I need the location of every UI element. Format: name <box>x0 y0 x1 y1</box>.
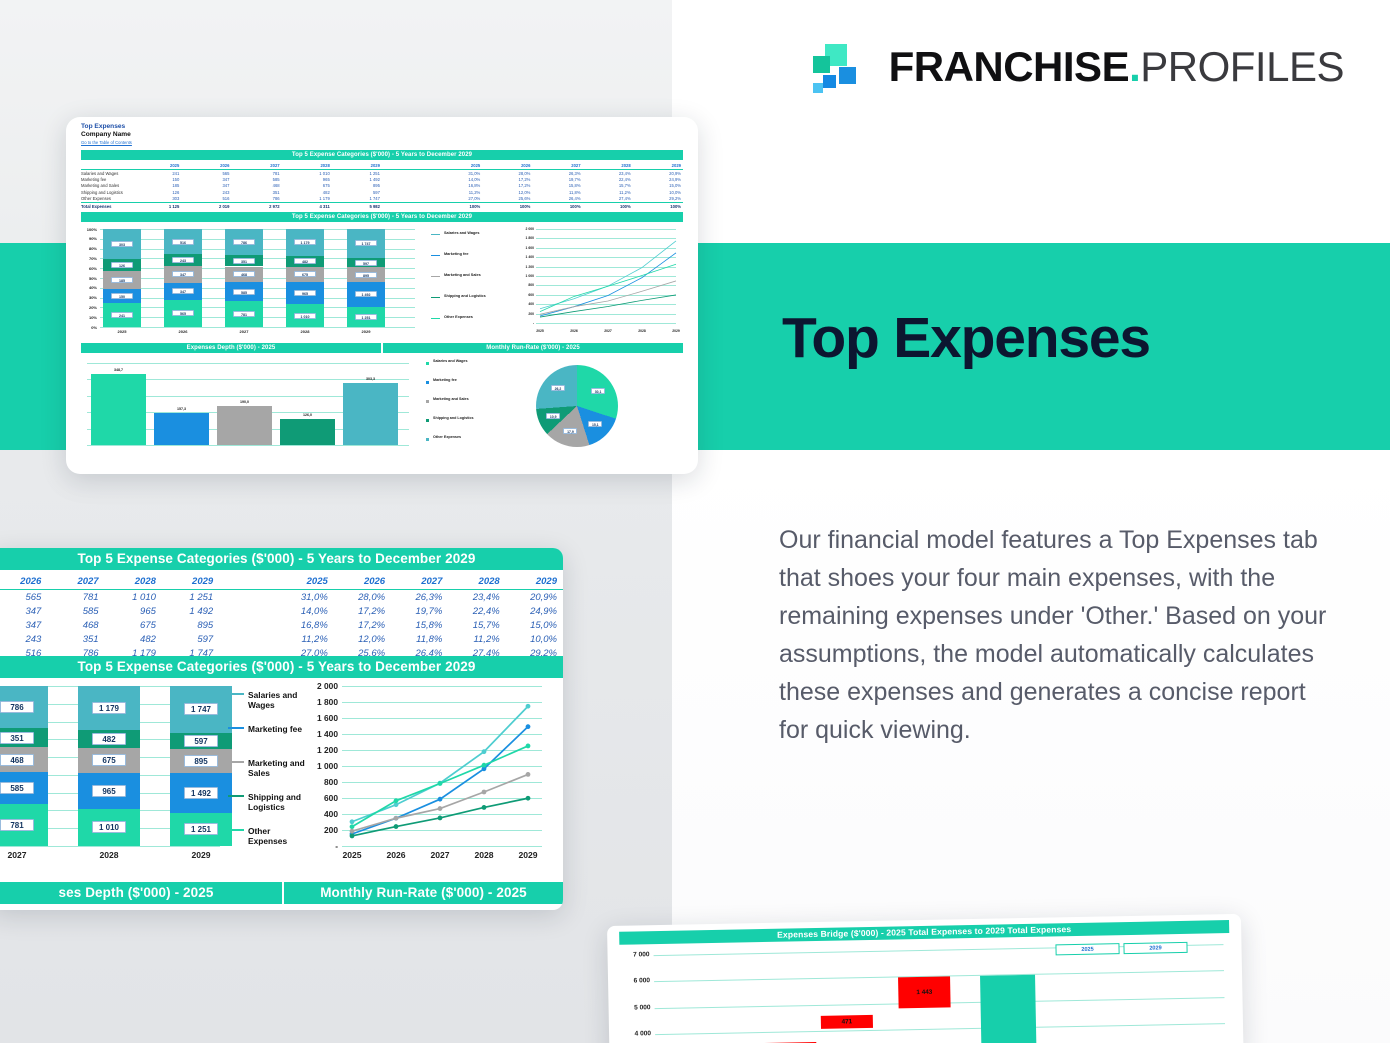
x-axis-tick-2: 2027 <box>225 329 263 334</box>
mini-x-tick-4: 2029 <box>664 329 688 333</box>
line-y-tick-1: 1 800 <box>300 697 338 707</box>
mini-y-tick-9: 200 <box>514 312 534 316</box>
mini-x-tick-2: 2027 <box>596 329 620 333</box>
cell-pct-4: 20,9% <box>506 590 563 605</box>
legend-swatch <box>431 318 440 319</box>
depth-bar-label-1: 157,3 <box>154 407 209 411</box>
segment-label: 185 <box>111 277 133 283</box>
cell-pct-3: 15,7% <box>448 618 505 632</box>
legend-swatch <box>431 297 440 298</box>
logo-word-franchise: FRANCHISE <box>889 43 1130 90</box>
legend-label: Marketing and Sales <box>433 397 469 402</box>
zoom-col-pct-4: 2029 <box>506 574 563 590</box>
screenshot-card-worksheet-overview: Top Expenses Company Name Go to the Tabl… <box>66 117 698 474</box>
bridge-gridline-3 <box>655 1023 1225 1035</box>
segment-label: 675 <box>92 754 126 766</box>
legend-swatch <box>228 693 244 695</box>
y-axis-tick-1: 90% <box>81 236 97 241</box>
segment-label: 351 <box>233 258 255 264</box>
logo-word-profiles: PROFILES <box>1140 43 1344 90</box>
cell-value-0: 1 125 <box>131 202 181 209</box>
segment-label: 965 <box>294 290 316 296</box>
cell-value-1: 585 <box>47 604 104 618</box>
legend-swatch <box>426 362 429 365</box>
screenshot-card-expenses-bridge: Expenses Bridge ($'000) - 2025 Total Exp… <box>607 914 1244 1043</box>
cell-pct-4: 100% <box>633 202 683 209</box>
cell-pct-0: 16,8% <box>276 618 333 632</box>
depth-bar <box>280 419 335 445</box>
legend-swatch <box>431 255 440 256</box>
legend-swatch <box>426 381 429 384</box>
stacked-percent-column-chart: 100%90%80%70%60%50%40%30%20%10%0%3031261… <box>81 225 683 339</box>
row-label: Other Expenses <box>81 196 131 203</box>
cell-pct-0: 11,2% <box>276 633 333 647</box>
segment-label: 675 <box>294 271 316 277</box>
band-header-chart-zoom: Top 5 Expense Categories ($'000) - 5 Yea… <box>0 656 563 678</box>
legend-swatch <box>228 829 244 831</box>
mini-y-tick-6: 800 <box>514 283 534 287</box>
band-header-table: Top 5 Expense Categories ($'000) - 5 Yea… <box>81 150 683 160</box>
legend-label: Marketing fee <box>444 252 468 257</box>
cell-value-0: 241 <box>131 170 181 177</box>
legend-item: Marketing and Sales <box>431 273 516 278</box>
cell-value-0: 243 <box>0 633 47 647</box>
bridge-bar-label-2: 471 <box>821 1017 873 1025</box>
y-axis-tick-4: 60% <box>81 266 97 271</box>
legend-label: Salaries and Wages <box>433 359 468 364</box>
legend-label: Salaries and Wages <box>248 690 306 710</box>
expense-table-zoom: 2026202720282029202520262027202820295657… <box>0 574 563 652</box>
cell-gap <box>382 202 432 209</box>
segment-label: 1 492 <box>355 291 377 297</box>
mini-y-tick-4: 1 200 <box>514 265 534 269</box>
legend-item: Salaries and Wages <box>431 231 516 236</box>
legend-label: Marketing and Sales <box>444 273 481 278</box>
cell-pct-2: 19,7% <box>391 604 448 618</box>
cell-value-2: 781 <box>231 170 281 177</box>
depth-bar <box>343 383 398 445</box>
y-axis-tick-2: 80% <box>81 246 97 251</box>
cell-value-1: 351 <box>47 633 104 647</box>
cell-value-1: 2 019 <box>181 202 231 209</box>
line-y-tick-10: - <box>300 841 338 851</box>
zoom-legend-item: Marketing fee <box>228 724 306 734</box>
y-axis-tick-10: 0% <box>81 325 97 330</box>
segment-label: 1 179 <box>92 702 126 714</box>
segment-label: 597 <box>355 260 377 266</box>
table-row: 24335148259711,2%12,0%11,8%11,2%10,0% <box>0 633 563 647</box>
legend-swatch <box>228 727 244 729</box>
brand-logo: FRANCHISE.PROFILES <box>813 38 1344 96</box>
depth-legend-item: Marketing fee <box>426 378 506 384</box>
cell-pct-1: 25,6% <box>482 196 532 203</box>
cell-value-3: 4 311 <box>282 202 332 209</box>
zoom-col-gap <box>219 574 276 590</box>
band-header-runrate-zoom: Monthly Run-Rate ($'000) - 2025 <box>284 882 563 904</box>
band-header-depth-zoom: ses Depth ($'000) - 2025 <box>0 882 282 904</box>
zoom-x-tick-2: 2029 <box>170 850 232 860</box>
cell-value-0: 303 <box>131 196 181 203</box>
line-y-tick-7: 600 <box>300 793 338 803</box>
legend-label: Marketing and Sales <box>248 758 306 778</box>
cell-value-3: 597 <box>162 633 219 647</box>
logo-wordmark: FRANCHISE.PROFILES <box>889 43 1344 91</box>
depth-legend-item: Marketing and Sales <box>426 397 506 403</box>
depth-bar-label-2: 190,0 <box>217 400 272 404</box>
cell-pct-1: 28,0% <box>334 590 391 605</box>
cell-pct-3: 23,4% <box>448 590 505 605</box>
cell-pct-4: 15,0% <box>506 618 563 632</box>
segment-label: 895 <box>184 755 218 767</box>
zoom-legend-item: Other Expenses <box>228 826 306 846</box>
bridge-y-tick-1: 6 000 <box>620 977 650 985</box>
depth-bar <box>217 406 272 445</box>
segment-label: 482 <box>294 258 316 264</box>
cell-pct-2: 100% <box>532 202 582 209</box>
background-white-top-right <box>672 0 1390 243</box>
y-axis-tick-0: 100% <box>81 227 97 232</box>
zoom-x-tick-0: 2027 <box>0 850 48 860</box>
cell-pct-2: 26,3% <box>391 590 448 605</box>
logo-dot: . <box>1129 43 1140 90</box>
line-y-tick-9: 200 <box>300 825 338 835</box>
legend-label: Shipping and Logistics <box>444 294 486 299</box>
segment-label: 241 <box>111 312 133 318</box>
table-row: 5657811 0101 25131,0%28,0%26,3%23,4%20,9… <box>0 590 563 605</box>
legend-swatch <box>431 276 440 277</box>
mini-x-tick-0: 2025 <box>528 329 552 333</box>
y-axis-tick-6: 40% <box>81 285 97 290</box>
segment-label: 597 <box>184 735 218 747</box>
x-axis-tick-3: 2028 <box>286 329 324 334</box>
cell-gap <box>219 590 276 605</box>
segment-label: 585 <box>0 782 34 794</box>
cell-value-4: 1 747 <box>332 196 382 203</box>
zoom-col-year-3: 2029 <box>162 574 219 590</box>
mini-y-tick-3: 1 400 <box>514 255 534 259</box>
bridge-bar-4 <box>980 975 1036 1043</box>
legend-label: Marketing fee <box>248 724 302 734</box>
legend-swatch <box>426 400 429 403</box>
cell-value-2: 965 <box>105 604 162 618</box>
zoom-legend-item: Shipping and Logistics <box>228 792 306 812</box>
segment-label: 965 <box>92 785 126 797</box>
band-header-chart: Top 5 Expense Categories ($'000) - 5 Yea… <box>81 212 683 222</box>
segment-label: 1 010 <box>294 313 316 319</box>
segment-label: 786 <box>0 701 34 713</box>
pie-slice-label-3: 10,9 <box>546 413 560 419</box>
x-axis-tick-1: 2026 <box>164 329 202 334</box>
depth-bar-label-0: 348,7 <box>91 368 146 372</box>
segment-label: 1 251 <box>355 314 377 320</box>
cell-value-1: 565 <box>181 170 231 177</box>
cell-pct-2: 15,8% <box>391 618 448 632</box>
line-x-tick-2: 2027 <box>425 850 455 860</box>
y-axis-tick-5: 50% <box>81 276 97 281</box>
segment-label: 243 <box>172 257 194 263</box>
cell-value-3: 1 179 <box>282 196 332 203</box>
legend-item: Other Expenses <box>431 315 516 320</box>
y-axis-tick-7: 30% <box>81 295 97 300</box>
depth-gridline-5 <box>87 445 409 446</box>
segment-label: 781 <box>0 819 34 831</box>
cell-value-1: 516 <box>181 196 231 203</box>
depth-bar-label-4: 303,3 <box>343 377 398 381</box>
legend-label: Other Expenses <box>433 435 461 440</box>
zoom-legend-item: Salaries and Wages <box>228 690 306 710</box>
cell-value-3: 1 010 <box>282 170 332 177</box>
legend-label: Shipping and Logistics <box>433 416 474 421</box>
legend-label: Marketing fee <box>433 378 457 383</box>
segment-label: 347 <box>172 271 194 277</box>
depth-and-pie-charts: 348,7157,3190,0126,0303,3Salaries and Wa… <box>81 355 683 465</box>
cell-pct-3: 100% <box>583 202 633 209</box>
line-x-tick-3: 2028 <box>469 850 499 860</box>
segment-label: 126 <box>111 262 133 268</box>
cell-value-3: 1 251 <box>162 590 219 605</box>
cell-pct-2: 26,3% <box>532 170 582 177</box>
cell-pct-1: 12,0% <box>334 633 391 647</box>
cell-gap <box>219 604 276 618</box>
zoom-col-pct-0: 2025 <box>276 574 333 590</box>
bridge-legend-2029: 2029 <box>1123 942 1187 954</box>
row-label: Salaries and Wages <box>81 170 131 177</box>
zoom-col-pct-1: 2026 <box>334 574 391 590</box>
legend-item: Shipping and Logistics <box>431 294 516 299</box>
y-axis-tick-3: 70% <box>81 256 97 261</box>
table-row: 3475859651 49214,0%17,2%19,7%22,4%24,9% <box>0 604 563 618</box>
depth-bar-label-3: 126,0 <box>280 413 335 417</box>
segment-label: 468 <box>0 754 34 766</box>
segment-label: 1 747 <box>184 703 218 715</box>
line-y-tick-8: 400 <box>300 809 338 819</box>
depth-legend-item: Salaries and Wages <box>426 359 506 365</box>
table-row: Other Expenses3035167861 1791 74727,0%25… <box>81 196 683 203</box>
cell-value-4: 1 251 <box>332 170 382 177</box>
mini-line-chart <box>536 229 686 325</box>
bridge-bar-label-3: 1 443 <box>898 988 950 996</box>
mini-y-tick-1: 1 800 <box>514 236 534 240</box>
cell-pct-0: 31,0% <box>276 590 333 605</box>
bridge-y-tick-3: 4 000 <box>621 1030 651 1038</box>
depth-bar <box>154 413 209 445</box>
cell-pct-0: 14,0% <box>276 604 333 618</box>
pie-slice-label-0: 30,1 <box>591 388 605 394</box>
table-row: Total Expenses1 1252 0192 9724 3115 9821… <box>81 202 683 209</box>
cell-pct-3: 23,4% <box>583 170 633 177</box>
cell-value-3: 895 <box>162 618 219 632</box>
page-description: Our financial model features a Top Expen… <box>779 521 1339 749</box>
cell-value-2: 482 <box>105 633 162 647</box>
cell-value-0: 347 <box>0 618 47 632</box>
mini-y-tick-10: - <box>514 321 534 325</box>
depth-legend-item: Other Expenses <box>426 435 506 441</box>
y-axis-tick-8: 20% <box>81 305 97 310</box>
cell-gap <box>219 618 276 632</box>
cell-pct-1: 17,2% <box>334 618 391 632</box>
zoom-x-tick-1: 2028 <box>78 850 140 860</box>
cell-value-3: 1 492 <box>162 604 219 618</box>
cell-pct-4: 10,0% <box>506 633 563 647</box>
segment-label: 516 <box>172 239 194 245</box>
segment-label: 781 <box>233 311 255 317</box>
cell-pct-3: 22,4% <box>448 604 505 618</box>
worksheet-company: Company Name <box>81 131 131 138</box>
segment-label: 1 179 <box>294 239 316 245</box>
cell-pct-3: 11,2% <box>448 633 505 647</box>
segment-label: 895 <box>355 272 377 278</box>
logo-squares-icon <box>813 38 871 96</box>
cell-pct-0: 31,0% <box>432 170 482 177</box>
segment-label: 468 <box>233 271 255 277</box>
segment-label: 565 <box>172 310 194 316</box>
legend-label: Shipping and Logistics <box>248 792 306 812</box>
legend-label: Other Expenses <box>444 315 473 320</box>
bridge-y-tick-0: 7 000 <box>619 951 649 959</box>
cell-value-2: 2 972 <box>231 202 281 209</box>
row-label: Total Expenses <box>81 202 131 209</box>
zoom-col-year-2: 2028 <box>105 574 162 590</box>
depth-gridline-0 <box>87 363 409 364</box>
zoom-gridline-9 <box>0 846 220 847</box>
segment-label: 351 <box>0 732 34 744</box>
legend-label: Other Expenses <box>248 826 306 846</box>
gridline-10 <box>100 327 415 328</box>
y-axis-tick-9: 10% <box>81 315 97 320</box>
segment-label: 786 <box>233 239 255 245</box>
line-y-tick-5: 1 000 <box>300 761 338 771</box>
cell-gap <box>382 196 432 203</box>
mini-y-tick-8: 400 <box>514 302 534 306</box>
segment-label: 1 492 <box>184 787 218 799</box>
legend-swatch <box>228 795 244 797</box>
zoom-col-pct-3: 2028 <box>448 574 505 590</box>
worksheet-title: Top Expenses <box>81 123 125 130</box>
line-y-tick-2: 1 600 <box>300 713 338 723</box>
line-y-tick-3: 1 400 <box>300 729 338 739</box>
cell-gap <box>382 170 432 177</box>
mini-x-tick-1: 2026 <box>562 329 586 333</box>
legend-swatch <box>228 761 244 763</box>
expenses-bridge-waterfall-chart: 7 0006 0005 0004 0007064711 44320252029 <box>619 938 1231 1043</box>
cell-pct-1: 28,0% <box>482 170 532 177</box>
segment-label: 303 <box>111 241 133 247</box>
cell-pct-1: 17,2% <box>334 604 391 618</box>
pie-slice-label-1: 15,1 <box>588 421 602 427</box>
legend-label: Salaries and Wages <box>444 231 480 236</box>
run-rate-pie-chart <box>536 365 618 447</box>
zoom-col-year-0: 2026 <box>0 574 47 590</box>
cell-value-2: 675 <box>105 618 162 632</box>
cell-pct-3: 27,4% <box>583 196 633 203</box>
table-of-contents-link[interactable]: Go to the Table of Contents <box>81 140 132 145</box>
depth-legend-item: Shipping and Logistics <box>426 416 506 422</box>
cell-value-0: 347 <box>0 604 47 618</box>
cell-value-4: 5 982 <box>332 202 382 209</box>
cell-pct-4: 24,9% <box>506 604 563 618</box>
stacked-column-and-line-charts: 78635146858578120271 1794826759651 01020… <box>0 680 563 878</box>
cell-pct-4: 29,2% <box>633 196 683 203</box>
segment-label: 347 <box>172 288 194 294</box>
bridge-y-tick-2: 5 000 <box>621 1004 651 1012</box>
legend-swatch <box>426 438 429 441</box>
cell-gap <box>219 633 276 647</box>
legend-swatch <box>426 419 429 422</box>
bridge-legend-2025: 2025 <box>1055 943 1119 955</box>
line-y-tick-4: 1 200 <box>300 745 338 755</box>
segment-label: 482 <box>92 733 126 745</box>
pie-slice-label-4: 26,2 <box>551 385 565 391</box>
mini-y-tick-2: 1 600 <box>514 246 534 250</box>
legend-item: Marketing fee <box>431 252 516 257</box>
cell-pct-4: 20,9% <box>633 170 683 177</box>
mini-y-tick-7: 600 <box>514 293 534 297</box>
cell-pct-2: 26,4% <box>532 196 582 203</box>
cell-value-2: 786 <box>231 196 281 203</box>
band-header-table-zoom: Top 5 Expense Categories ($'000) - 5 Yea… <box>0 548 563 570</box>
mini-y-tick-0: 2 000 <box>514 227 534 231</box>
segment-label: 1 747 <box>355 240 377 246</box>
line-y-tick-0: 2 000 <box>300 681 338 691</box>
mini-y-tick-5: 1 000 <box>514 274 534 278</box>
segment-label: 1 251 <box>184 823 218 835</box>
segment-label: 1 010 <box>92 821 126 833</box>
zoom-col-pct-2: 2027 <box>391 574 448 590</box>
cell-pct-1: 100% <box>482 202 532 209</box>
cell-value-0: 565 <box>0 590 47 605</box>
x-axis-tick-0: 2025 <box>103 329 141 334</box>
mini-x-tick-3: 2028 <box>630 329 654 333</box>
segment-label: 585 <box>233 289 255 295</box>
line-x-tick-1: 2026 <box>381 850 411 860</box>
page-title: Top Expenses <box>782 305 1150 371</box>
expense-table: 2025202620272028202920252026202720282029… <box>81 163 683 208</box>
cell-value-1: 781 <box>47 590 104 605</box>
cell-pct-2: 11,8% <box>391 633 448 647</box>
line-x-tick-4: 2029 <box>513 850 543 860</box>
table-row: Salaries and Wages2415657811 0101 25131,… <box>81 170 683 177</box>
zoom-legend-item: Marketing and Sales <box>228 758 306 778</box>
cell-pct-0: 100% <box>432 202 482 209</box>
zoom-col-year-1: 2027 <box>47 574 104 590</box>
band-header-runrate: Monthly Run-Rate ($'000) - 2025 <box>383 343 683 353</box>
line-x-tick-0: 2025 <box>337 850 367 860</box>
line-y-tick-6: 800 <box>300 777 338 787</box>
segment-label: 150 <box>111 293 133 299</box>
cell-value-2: 1 010 <box>105 590 162 605</box>
table-row: 34746867589516,8%17,2%15,8%15,7%15,0% <box>0 618 563 632</box>
depth-bar <box>91 374 146 445</box>
cell-value-1: 468 <box>47 618 104 632</box>
screenshot-card-worksheet-zoom: Top 5 Expense Categories ($'000) - 5 Yea… <box>0 548 563 910</box>
band-header-depth: Expenses Depth ($'000) - 2025 <box>81 343 381 353</box>
cell-pct-0: 27,0% <box>432 196 482 203</box>
pie-slice-label-2: 17,9 <box>563 428 577 434</box>
x-axis-tick-4: 2029 <box>347 329 385 334</box>
line-chart-plot <box>342 686 542 848</box>
legend-swatch <box>431 234 440 235</box>
